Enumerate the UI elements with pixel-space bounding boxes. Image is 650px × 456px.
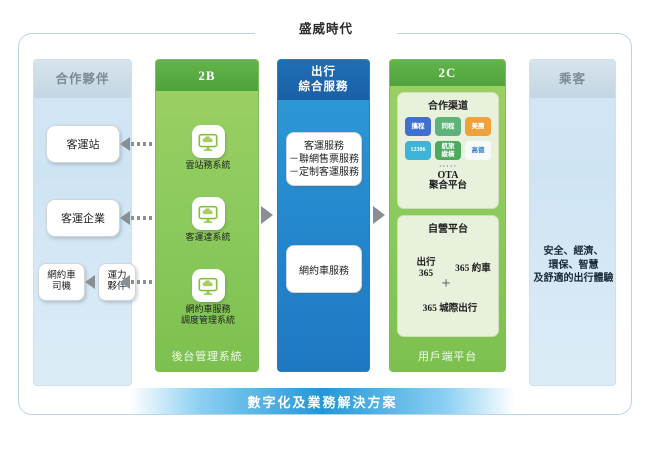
b2b-system-item-1-label: 雲站務系統 xyxy=(156,160,259,171)
cloud-monitor-icon xyxy=(192,197,225,230)
channel-logo-umetrip-label: 航旅 縱橫 xyxy=(442,143,455,158)
partner-box-bus-station-label: 客運站 xyxy=(67,136,100,152)
service-column-header: 出行 綜合服務 xyxy=(278,60,369,100)
arrow-right-b2b-to-service-icon xyxy=(261,206,273,224)
channel-logo-ctrip[interactable]: 攜程 xyxy=(405,117,431,136)
b2b-item2-line1: 客運達系統 xyxy=(185,232,230,242)
ride-driver-line1: 網約車 xyxy=(47,271,76,281)
b2c-self-platform-panel: 自營平台 出行 365 + 365 約車 365 城際出行 xyxy=(397,215,499,337)
b2c-self-platform-title: 自營平台 xyxy=(398,220,498,235)
trip365-line2: 365 xyxy=(419,269,433,279)
arrow-left-to-bus-station-icon xyxy=(120,137,130,151)
channel-logo-umetrip[interactable]: 航旅 縱橫 xyxy=(435,141,461,160)
channel-logo-amap[interactable]: 高德 xyxy=(465,141,491,160)
b2b-item3-line2: 調度管理系統 xyxy=(181,315,235,325)
partner-box-bus-station[interactable]: 客運站 xyxy=(46,125,120,163)
diagram-canvas: 盛威時代 合作夥伴 客運站 客運企業 網約車 司機 運力 夥伴 2B xyxy=(0,0,650,456)
b2c-channels-title: 合作渠道 xyxy=(398,97,498,112)
passenger-text-line2: 環保、智慧 xyxy=(549,260,599,271)
self-platform-item-intercity365[interactable]: 365 城際出行 xyxy=(404,304,496,315)
b2b-system-item-3[interactable]: 網約車服務 調度管理系統 xyxy=(156,269,259,325)
page-title: 盛威時代 xyxy=(255,18,397,37)
b2b-item1-line1: 雲站務系統 xyxy=(185,160,230,170)
service-bus-line1: 客運服務 xyxy=(304,141,344,152)
passenger-column-header: 乘客 xyxy=(530,60,615,98)
service-box-bus[interactable]: 客運服務 －聯網售票服務 －定制客運服務 xyxy=(286,132,362,186)
channel-logo-ctrip-label: 攜程 xyxy=(412,123,425,131)
b2c-column-header: 2C xyxy=(390,60,505,86)
b2c-channels-panel: 合作渠道 攜程 同程 美團 12306 航旅 縱橫 xyxy=(397,92,499,209)
b2c-ota-name: OTA xyxy=(398,170,498,181)
channel-logo-meituan[interactable]: 美團 xyxy=(465,117,491,136)
partner-box-bus-enterprise-label: 客運企業 xyxy=(61,210,105,226)
bottom-solution-bar: 數字化及業務解決方案 xyxy=(130,388,515,414)
arrow-dash-tail-3 xyxy=(131,280,153,284)
self-platform-plus-icon: + xyxy=(434,278,458,289)
partner-column-header: 合作夥伴 xyxy=(34,60,131,98)
umetrip-line2: 縱橫 xyxy=(442,151,455,158)
passenger-benefit-text: 安全、經濟、 環保、智慧 及舒適的出行體驗 xyxy=(530,245,616,286)
b2b-system-item-2-label: 客運達系統 xyxy=(156,232,259,243)
partner-box-bus-enterprise[interactable]: 客運企業 xyxy=(46,199,120,237)
passenger-text-line3: 及舒適的出行體驗 xyxy=(534,273,614,284)
cloud-monitor-icon xyxy=(192,125,225,158)
partner-box-ride-driver-label: 網約車 司機 xyxy=(45,271,78,293)
ride-driver-line2: 司機 xyxy=(52,282,71,292)
passenger-text-line1: 安全、經濟、 xyxy=(544,246,604,257)
arrow-left-to-capacity-icon xyxy=(120,275,130,289)
bottom-solution-bar-label: 數字化及業務解決方案 xyxy=(247,392,397,411)
channel-logo-amap-label: 高德 xyxy=(472,147,485,155)
b2c-ota-sub: 聚合平台 xyxy=(398,181,498,192)
arrow-left-to-bus-enterprise-icon xyxy=(120,211,130,225)
arrow-dash-tail-2 xyxy=(131,216,153,220)
b2c-column: 2C 合作渠道 攜程 同程 美團 12306 航旅 xyxy=(389,59,506,372)
b2b-column-header: 2B xyxy=(156,60,258,91)
b2b-column: 2B 雲站務系統 xyxy=(155,59,259,372)
b2b-column-footer: 後台管理系統 xyxy=(156,348,258,364)
channel-logo-tongcheng[interactable]: 同程 xyxy=(435,117,461,136)
cloud-monitor-icon xyxy=(192,269,225,302)
arrow-dash-tail-1 xyxy=(131,142,153,146)
b2b-system-item-2[interactable]: 客運達系統 xyxy=(156,197,259,243)
trip365-line1: 出行 xyxy=(416,258,435,268)
service-bus-line2: －聯網售票服務 xyxy=(289,154,359,165)
arrow-right-service-to-b2c-icon xyxy=(373,206,385,224)
service-header-line2: 綜合服務 xyxy=(278,80,369,95)
self-platform-item-ride365[interactable]: 365 約車 xyxy=(448,264,498,275)
b2b-item3-line1: 網約車服務 xyxy=(185,304,230,314)
channel-logo-meituan-label: 美團 xyxy=(472,123,485,131)
channel-logo-12306-label: 12306 xyxy=(411,147,426,155)
self-platform-item-trip365[interactable]: 出行 365 xyxy=(406,258,446,280)
channel-logo-12306[interactable]: 12306 xyxy=(405,141,431,160)
b2c-channel-logo-grid: 攜程 同程 美團 12306 航旅 縱橫 高德 xyxy=(398,117,498,160)
service-column: 出行 綜合服務 xyxy=(277,59,370,372)
channel-logo-tongcheng-label: 同程 xyxy=(442,123,455,131)
service-header-line1: 出行 xyxy=(278,65,369,80)
partner-box-ride-driver[interactable]: 網約車 司機 xyxy=(38,263,85,301)
b2b-system-item-3-label: 網約車服務 調度管理系統 xyxy=(156,304,259,325)
b2c-column-footer: 用戶端平台 xyxy=(390,348,505,364)
arrow-left-capacity-to-driver-icon xyxy=(85,275,95,289)
service-box-bus-label: 客運服務 －聯網售票服務 －定制客運服務 xyxy=(287,140,361,179)
passenger-column: 乘客 安全、經濟、 環保、智慧 及舒適的出行體驗 xyxy=(529,59,616,386)
service-box-ride-hailing-label: 網約車服務 xyxy=(299,262,349,277)
service-box-ride-hailing[interactable]: 網約車服務 xyxy=(286,245,362,293)
umetrip-line1: 航旅 xyxy=(442,143,455,150)
b2b-system-item-1[interactable]: 雲站務系統 xyxy=(156,125,259,171)
service-bus-line3: －定制客運服務 xyxy=(289,167,359,178)
